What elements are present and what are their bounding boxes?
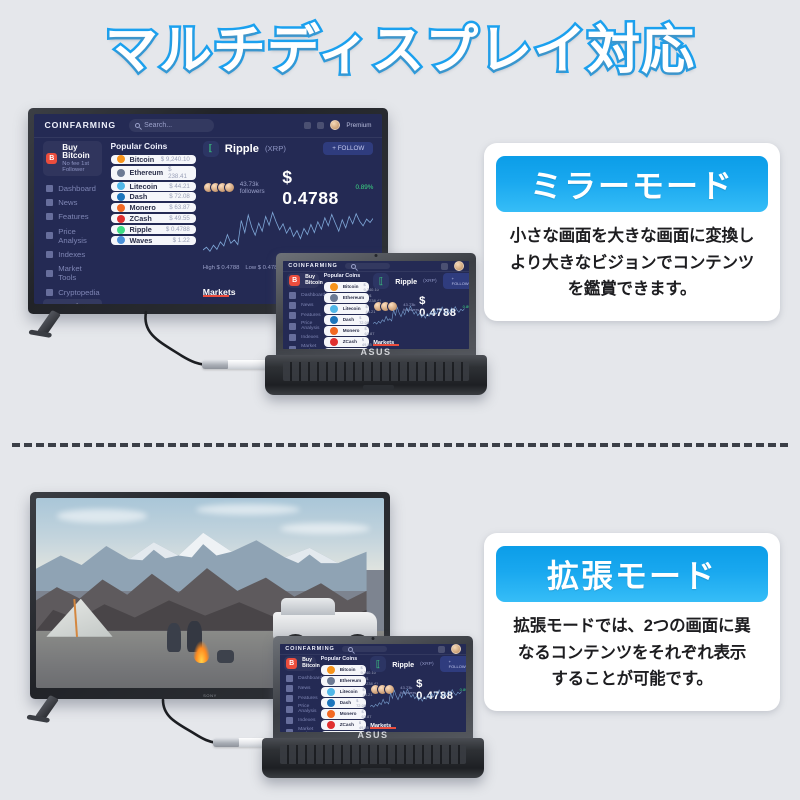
nav-icon (286, 717, 293, 724)
backpack (217, 650, 234, 663)
sidebar-item-label: News (301, 303, 313, 308)
coin-value: $ 44.21 (169, 183, 190, 190)
price-chart-svg (370, 681, 462, 712)
adapter-connector (213, 738, 239, 747)
laptop-mirror-mode: COINFARMING B Buy Bitcoin (265, 253, 487, 395)
nav-icon (46, 289, 53, 296)
sidebar-item-price-analysis[interactable]: Price Analysis (287, 320, 319, 333)
coin-row[interactable]: Monero$ 63.87 (111, 203, 196, 212)
card-line: より大きなビジョンでコンテンツ (496, 250, 768, 277)
laptop-base (262, 738, 484, 778)
coin-name: Waves (130, 236, 153, 245)
stat-pill: High $ 0.4788 (203, 265, 240, 271)
follower-avatars (203, 182, 231, 193)
follow-button[interactable]: + FOLLOW (440, 656, 467, 672)
bitcoin-icon: B (46, 153, 57, 164)
card-body-mirror-mode: 小さな画面を大きな画面に変換し より大きなビジョンでコンテンツ を鑑賞できます。 (496, 223, 768, 303)
popular-coins-title: Popular Coins (111, 141, 196, 151)
badge-extend-mode: 拡張モード (496, 546, 768, 602)
bell-icon[interactable] (317, 122, 324, 129)
coin-row[interactable]: Monero$ 63.87 (324, 326, 370, 336)
coin-list: Bitcoin$ 9,240.10Ethereum$ 238.41Litecoi… (324, 282, 370, 349)
buy-bitcoin-button[interactable]: B Buy Bitcoin No fee 1st Follower (43, 141, 102, 177)
sidebar-nav: DashboardNewsFeaturesPrice AnalysisIndex… (43, 181, 102, 304)
buy-button-title: Buy Bitcoin (62, 144, 98, 162)
buy-button-title: Buy Bitcoin (305, 275, 323, 286)
webcam-icon (374, 254, 377, 257)
sidebar-item-label: Features (58, 212, 88, 221)
person (167, 623, 182, 652)
coin-name: Ripple (130, 225, 152, 234)
coin-row[interactable]: Dash$ 72.08 (324, 315, 370, 325)
coin-symbol: (XRP) (423, 279, 436, 284)
coin-name: Litecoin (130, 182, 158, 191)
crypto-dashboard-laptop-top: COINFARMING B Buy Bitcoin (283, 261, 470, 349)
sidebar-item-news[interactable]: News (43, 195, 102, 209)
grid-icon[interactable] (304, 122, 311, 129)
search-icon (351, 264, 356, 269)
coin-row[interactable]: Ethereum$ 238.41 (111, 166, 196, 180)
coin-icon (117, 182, 125, 190)
laptop-screen-mirror: COINFARMING B Buy Bitcoin (283, 261, 470, 349)
coin-name: Monero (130, 203, 156, 212)
sidebar-item-price-analysis[interactable]: Price Analysis (284, 703, 316, 716)
popular-coins-title: Popular Coins (324, 273, 370, 279)
coin-row[interactable]: Litecoin$ 44.21 (111, 182, 196, 191)
coin-row[interactable]: Litecoin$ 44.21 (321, 687, 367, 697)
search-input[interactable] (345, 263, 391, 269)
ripple-icon: ⟦ (203, 141, 219, 157)
card-line: を鑑賞できます。 (496, 276, 768, 303)
price-chart (203, 195, 374, 262)
coin-icon (117, 215, 125, 223)
sidebar-item-price-analysis[interactable]: Price Analysis (43, 224, 102, 247)
laptop-lid: COINFARMING B Buy Bitcoin (276, 253, 476, 358)
laptop-trackpad[interactable] (360, 768, 391, 773)
sidebar-item-label: Market Tools (301, 344, 317, 349)
coin-name: Litecoin (340, 689, 358, 694)
coin-name: Ripple (395, 277, 417, 286)
coin-icon (330, 294, 338, 302)
coin-list: Bitcoin$ 9,240.10Ethereum$ 238.41Litecoi… (111, 155, 196, 245)
markets-underline (370, 727, 396, 729)
coin-row[interactable]: Ethereum$ 238.41 (324, 293, 370, 303)
coin-detail-header: ⟦ Ripple (XRP) + FOLLOW (373, 273, 465, 289)
sidebar-item-features[interactable]: Features (287, 310, 319, 320)
coin-icon (117, 193, 125, 201)
sidebar-item-dashboard[interactable]: Dashboard (287, 290, 319, 300)
laptop-lid: COINFARMING B Buy Bitcoin (273, 636, 473, 741)
sidebar-item-indexes[interactable]: Indexes (43, 247, 102, 261)
sidebar: B Buy Bitcoin DashboardNewsFeaturesPrice… (284, 656, 316, 730)
grid-icon[interactable] (441, 263, 448, 270)
sidebar-item-cryptopedia[interactable]: Cryptopedia (43, 285, 102, 299)
sidebar-item-label: Market Tools (298, 727, 314, 732)
buy-bitcoin-button[interactable]: B Buy Bitcoin (287, 273, 319, 288)
coin-name: Dash (340, 700, 351, 705)
nav-icon (46, 199, 53, 206)
card-line: することが可能です。 (496, 666, 768, 693)
coin-name: ZCash (343, 339, 357, 344)
coin-value: $ 72.08 (169, 193, 190, 200)
sidebar-item-news[interactable]: News (284, 683, 316, 693)
card-line: 小さな画面を大きな画面に変換し (496, 223, 768, 250)
product-infographic: マルチディスプレイ対応 COINFARMING Search... Premiu… (0, 0, 800, 800)
coin-name: Bitcoin (130, 155, 155, 164)
sidebar-item-label: Dashboard (58, 184, 96, 193)
avatar[interactable] (451, 644, 461, 654)
coin-name: Bitcoin (343, 284, 359, 289)
coin-detail-header: ⟦ Ripple (XRP) + FOLLOW (370, 656, 462, 672)
sidebar-item-market-tools[interactable]: Market Tools (287, 343, 319, 349)
popular-coins-panel: Popular Coins Bitcoin$ 9,240.10Ethereum$… (321, 656, 367, 730)
coin-icon (327, 710, 335, 718)
coin-list: Bitcoin$ 9,240.10Ethereum$ 238.41Litecoi… (321, 665, 367, 732)
ripple-icon: ⟦ (373, 273, 389, 289)
nav-icon (289, 292, 296, 299)
nav-icon (289, 312, 296, 319)
coin-row[interactable]: ZCash$ 49.55 (111, 214, 196, 223)
sidebar-item-indexes[interactable]: Indexes (284, 716, 316, 726)
laptop-keyboard[interactable] (283, 362, 470, 381)
sidebar-item-label: Indexes (301, 335, 318, 340)
markets-underline (373, 344, 399, 346)
page-title: マルチディスプレイ対応 (0, 8, 800, 94)
follow-button[interactable]: + FOLLOW (443, 273, 470, 289)
nav-icon (46, 270, 53, 277)
coin-row[interactable]: Litecoin$ 44.21 (324, 304, 370, 314)
coin-name: Ethereum (340, 678, 361, 683)
sidebar-item-label: Indexes (58, 250, 85, 259)
markets-title: Markets (373, 340, 394, 346)
popular-coins-panel: Popular Coins Bitcoin$ 9,240.10Ethereum$… (111, 141, 196, 301)
topbar-actions (441, 261, 464, 271)
coin-row[interactable]: Bitcoin$ 9,240.10 (111, 155, 196, 164)
card-line: なるコンテンツをそれぞれ表示 (496, 640, 768, 667)
nav-icon (289, 302, 296, 309)
user-name: Premium (346, 122, 371, 129)
coin-icon (327, 666, 335, 674)
followers-count: 43.73k followers (240, 181, 282, 195)
buy-button-subtitle: No fee 1st Follower (62, 161, 98, 173)
app-logo: COINFARMING (44, 120, 116, 130)
nav-icon (46, 213, 53, 220)
sidebar-item-dashboard[interactable]: Dashboard (284, 673, 316, 683)
sidebar-item-features[interactable]: Features (43, 210, 102, 224)
coin-name: Ripple (225, 143, 259, 155)
popular-coins-panel: Popular Coins Bitcoin$ 9,240.10Ethereum$… (324, 273, 370, 347)
coin-name: ZCash (340, 722, 354, 727)
grid-icon[interactable] (438, 646, 445, 653)
coin-value: $ 49.55 (362, 337, 372, 347)
sidebar-item-label: Price Analysis (58, 227, 98, 245)
coin-detail-panel: ⟦ Ripple (XRP) + FOLLOW 43.73k followers… (373, 273, 465, 347)
buy-bitcoin-button[interactable]: B Buy Bitcoin (284, 656, 316, 671)
coin-icon (327, 677, 335, 685)
dashboard-topbar: COINFARMING (283, 261, 470, 272)
nav-icon (286, 695, 293, 702)
sidebar-nav: DashboardNewsFeaturesPrice AnalysisIndex… (287, 290, 319, 349)
coin-icon (117, 169, 125, 177)
sidebar-item-indexes[interactable]: Indexes (287, 333, 319, 343)
nav-icon (46, 232, 53, 239)
coin-value: $ 72.08 (359, 315, 369, 325)
sidebar-item-label: Features (301, 313, 321, 318)
follow-button[interactable]: + FOLLOW (323, 142, 373, 155)
coin-icon (117, 204, 125, 212)
laptop-screen-dashboard: COINFARMING B Buy Bitcoin (280, 644, 467, 732)
coin-detail-header: ⟦ Ripple (XRP) + FOLLOW (203, 141, 374, 157)
sidebar-item-label: Market Tools (58, 264, 98, 282)
coin-row[interactable]: Bitcoin$ 9,240.10 (324, 282, 370, 292)
app-logo: COINFARMING (285, 646, 335, 652)
sidebar-item-label: Cryptopedia (58, 288, 99, 297)
coin-name: Dash (343, 317, 354, 322)
coin-value: $ 9,240.10 (161, 156, 190, 163)
sidebar-item-news[interactable]: News (287, 300, 319, 310)
coin-icon (330, 283, 338, 291)
sidebar-item-label: News (298, 686, 310, 691)
cloud (57, 509, 147, 522)
markets-underline (203, 295, 229, 297)
coin-icon (117, 236, 125, 244)
nav-icon (289, 323, 296, 330)
adapter-connector (202, 360, 228, 369)
info-card-mirror-mode: ミラーモード 小さな画面を大きな画面に変換し より大きなビジョンでコンテンツ を… (484, 143, 780, 321)
bitcoin-icon: B (286, 658, 297, 669)
info-card-extend-mode: 拡張モード 拡張モードでは、2つの画面に異 なるコンテンツをそれぞれ表示 するこ… (484, 533, 780, 711)
markets-title: Markets (370, 723, 391, 729)
coin-row[interactable]: ZCash$ 49.55 (321, 720, 367, 730)
dashboard-topbar: COINFARMING Search... Premium (34, 114, 382, 138)
coin-icon (117, 155, 125, 163)
coin-row[interactable]: Bitcoin$ 9,240.10 (321, 665, 367, 675)
markets-title: Markets (203, 287, 236, 297)
coin-value: $ 1.22 (173, 237, 190, 244)
sidebar-item-label: Price Analysis (301, 321, 319, 331)
coin-name: Monero (340, 711, 357, 716)
nav-icon (46, 185, 53, 192)
search-input[interactable] (342, 646, 388, 652)
coin-value: $ 63.87 (169, 204, 190, 211)
nav-icon (289, 346, 296, 349)
coin-name: Litecoin (343, 306, 361, 311)
search-placeholder: Search... (144, 122, 172, 129)
campfire (193, 641, 210, 664)
sidebar-nav: DashboardNewsFeaturesPrice AnalysisIndex… (284, 673, 316, 732)
coin-icon (330, 327, 338, 335)
sidebar-item-popular-coins[interactable]: Popular Coins (43, 299, 102, 304)
coin-row[interactable]: Monero$ 63.87 (321, 709, 367, 719)
sidebar-item-label: Dashboard (301, 293, 325, 298)
sidebar-item-features[interactable]: Features (284, 693, 316, 703)
dashboard-topbar: COINFARMING (280, 644, 467, 655)
coin-name: Monero (343, 328, 360, 333)
sidebar-item-market-tools[interactable]: Market Tools (284, 726, 316, 732)
coin-row[interactable]: Dash$ 72.08 (321, 698, 367, 708)
coin-name: Dash (130, 192, 148, 201)
coin-name: Ethereum (343, 295, 364, 300)
crypto-dashboard-laptop-bottom: COINFARMING B Buy Bitcoin (280, 644, 467, 732)
coin-icon (330, 316, 338, 324)
section-divider (12, 443, 788, 447)
ripple-icon: ⟦ (370, 656, 386, 672)
webcam-icon (371, 637, 374, 640)
bitcoin-icon: B (289, 275, 300, 286)
coin-value: $ 49.55 (359, 720, 369, 730)
coin-name: Ethereum (130, 168, 164, 177)
coin-icon (117, 226, 125, 234)
sidebar-item-label: Popular Coins (58, 302, 98, 304)
nav-icon (286, 706, 293, 713)
sidebar: B Buy Bitcoin DashboardNewsFeaturesPrice… (287, 273, 319, 347)
search-input[interactable]: Search... (129, 119, 214, 132)
price-chart-svg (203, 195, 374, 262)
coin-value: $ 72.08 (356, 698, 366, 708)
topbar-actions (438, 644, 461, 654)
price-chart (373, 298, 465, 329)
sidebar-item-label: News (58, 198, 77, 207)
sidebar-item-label: Price Analysis (298, 704, 316, 714)
cloud (196, 504, 300, 515)
avatar[interactable] (454, 261, 464, 271)
card-line: 拡張モードでは、2つの画面に異 (496, 613, 768, 640)
coin-value: $ 238.41 (168, 166, 190, 180)
price-chart (370, 681, 462, 712)
coin-row[interactable]: Ethereum$ 238.41 (321, 676, 367, 686)
coin-change-pct: 0.89% (355, 184, 373, 191)
coin-icon (327, 721, 335, 729)
badge-mirror-mode: ミラーモード (496, 156, 768, 212)
laptop-keyboard[interactable] (280, 745, 467, 764)
laptop-extend-mode: COINFARMING B Buy Bitcoin (262, 636, 484, 778)
avatar[interactable] (330, 120, 340, 130)
sidebar-item-dashboard[interactable]: Dashboard (43, 181, 102, 195)
coin-symbol: (XRP) (265, 144, 286, 153)
nav-icon (286, 675, 293, 682)
coin-detail-panel: ⟦ Ripple (XRP) + FOLLOW 43.73k followers… (370, 656, 462, 730)
nav-icon (286, 729, 293, 732)
coin-icon (330, 338, 338, 346)
coin-icon (327, 699, 335, 707)
coin-value: $ 49.55 (169, 215, 190, 222)
sidebar-item-label: Features (298, 696, 318, 701)
laptop-base (265, 355, 487, 395)
topbar-actions: Premium (304, 120, 371, 130)
search-icon (135, 123, 140, 128)
card-body-extend-mode: 拡張モードでは、2つの画面に異 なるコンテンツをそれぞれ表示 することが可能です… (496, 613, 768, 693)
sidebar-item-label: Indexes (298, 718, 315, 723)
coin-row[interactable]: ZCash$ 49.55 (324, 337, 370, 347)
coin-icon (327, 688, 335, 696)
sidebar-item-market-tools[interactable]: Market Tools (43, 262, 102, 285)
nav-icon (46, 251, 53, 258)
nav-icon (289, 334, 296, 341)
app-logo: COINFARMING (288, 263, 338, 269)
buy-button-title: Buy Bitcoin (302, 658, 320, 669)
tv-brand-logo: SONY (203, 693, 217, 698)
coin-row[interactable]: Dash$ 72.08 (111, 192, 196, 201)
coin-name: Ripple (392, 660, 414, 669)
coin-row[interactable]: Waves$ 1.22 (111, 236, 196, 245)
nav-icon (286, 685, 293, 692)
pickup-truck (273, 612, 377, 639)
coin-name: Bitcoin (340, 667, 356, 672)
sidebar-item-label: Dashboard (298, 676, 322, 681)
laptop-trackpad[interactable] (363, 385, 394, 390)
price-chart-svg (373, 298, 465, 329)
coin-icon (330, 305, 338, 313)
search-icon (348, 647, 353, 652)
sidebar: B Buy Bitcoin No fee 1st Follower Dashbo… (43, 141, 102, 301)
coin-symbol: (XRP) (420, 662, 433, 667)
popular-coins-title: Popular Coins (321, 656, 367, 662)
coin-name: ZCash (130, 214, 152, 223)
coin-row[interactable]: Ripple$ 0.4788 (111, 225, 196, 234)
coin-value: $ 0.4788 (166, 226, 190, 233)
